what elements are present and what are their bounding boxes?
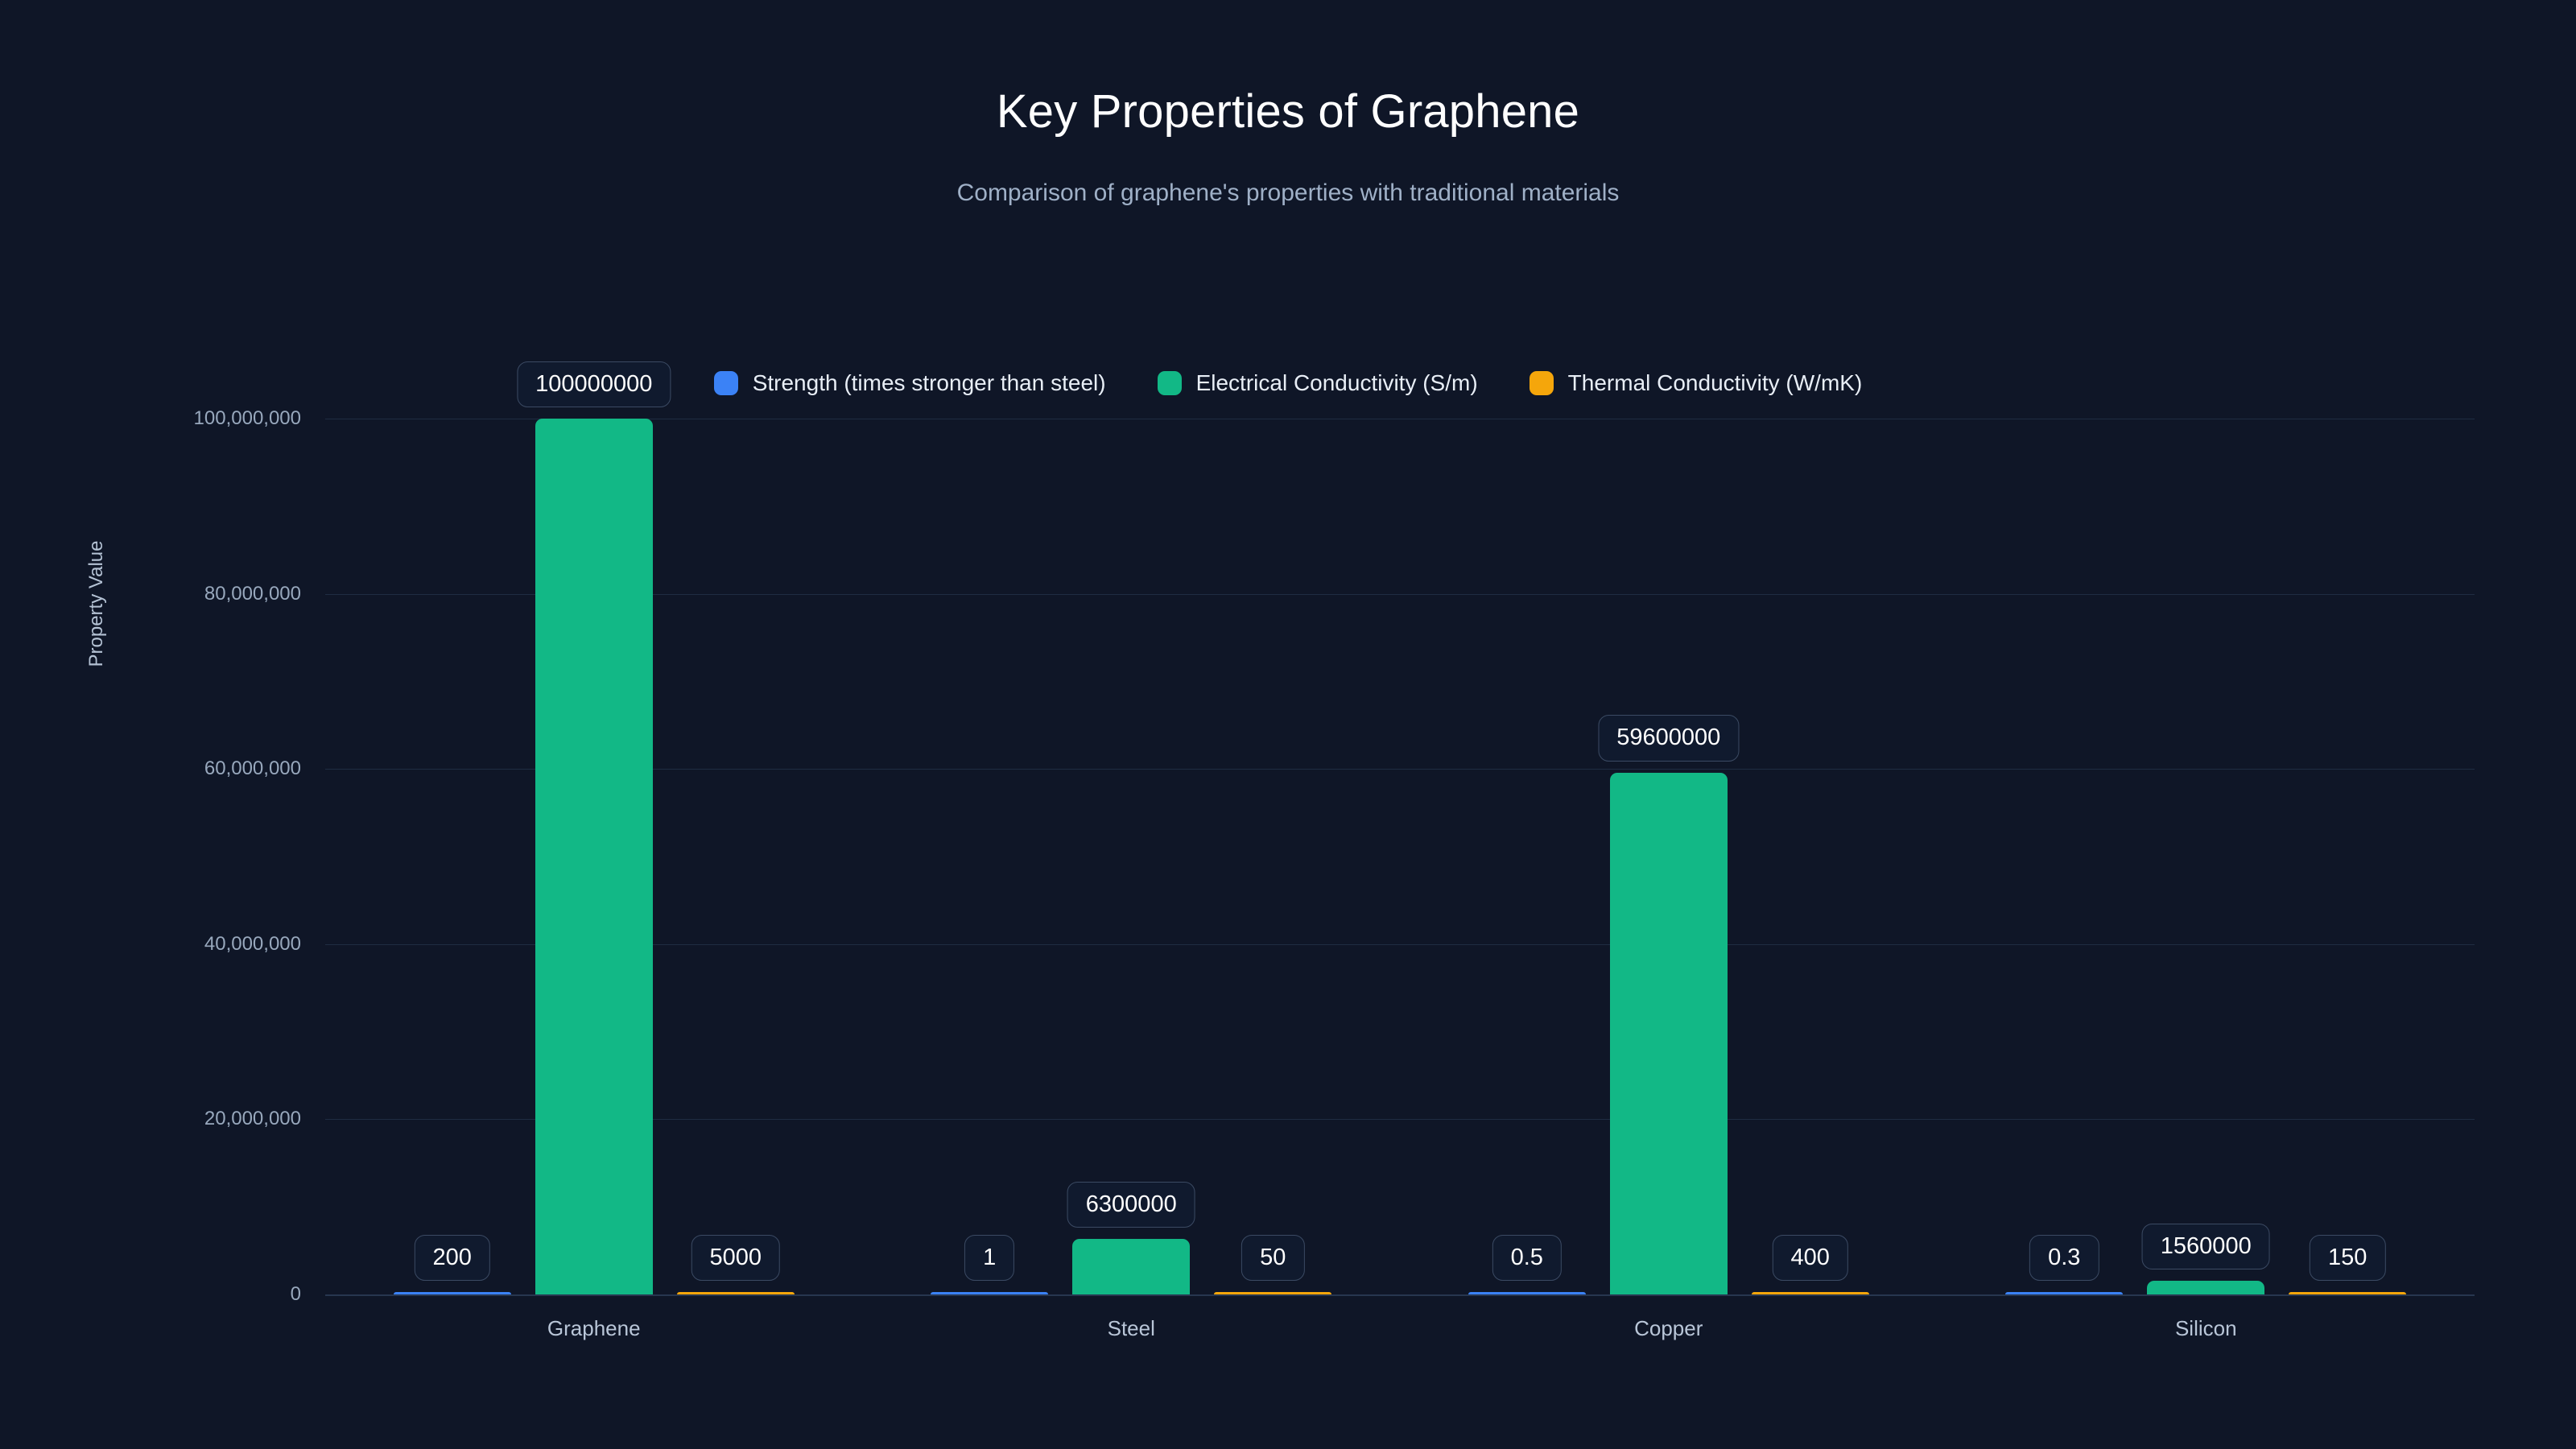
bar-slot: 150 [2289, 419, 2406, 1294]
y-axis-tick-label: 0 [0, 1283, 301, 1306]
value-label: 200 [415, 1235, 490, 1281]
bar-group-copper: 0.559600000400Copper [1456, 419, 1881, 1294]
bar-slot: 1 [931, 419, 1048, 1294]
y-axis-tick-label: 20,000,000 [0, 1108, 301, 1130]
value-label: 5000 [691, 1235, 780, 1281]
bar-slot: 200 [394, 419, 511, 1294]
y-axis-tick-label: 40,000,000 [0, 933, 301, 956]
value-label: 1 [964, 1235, 1014, 1281]
value-label: 1560000 [2142, 1224, 2270, 1269]
bar-slot: 50 [1214, 419, 1331, 1294]
bar-graphene-1[interactable] [535, 419, 653, 1294]
bar-copper-0[interactable] [1468, 1292, 1586, 1294]
bar-slot: 0.3 [2005, 419, 2123, 1294]
value-label: 0.5 [1492, 1235, 1562, 1281]
value-label: 6300000 [1067, 1182, 1195, 1228]
bar-graphene-2[interactable] [677, 1292, 795, 1294]
bar-slot: 5000 [677, 419, 795, 1294]
y-axis-tick-label: 60,000,000 [0, 758, 301, 780]
bar-slot: 100000000 [535, 419, 653, 1294]
value-label: 50 [1241, 1235, 1304, 1281]
plot-area: Property Value 020,000,00040,000,00060,0… [0, 0, 2576, 1449]
x-axis-category-label: Graphene [382, 1316, 807, 1341]
bar-steel-0[interactable] [931, 1292, 1048, 1294]
bar-silicon-1[interactable] [2147, 1281, 2264, 1294]
bar-steel-1[interactable] [1072, 1239, 1190, 1294]
y-axis-tick-label: 100,000,000 [0, 407, 301, 430]
bar-graphene-0[interactable] [394, 1292, 511, 1294]
bar-copper-1[interactable] [1610, 773, 1728, 1294]
bar-group-steel: 1630000050Steel [919, 419, 1344, 1294]
bar-slot: 400 [1752, 419, 1869, 1294]
value-label: 100000000 [517, 361, 671, 407]
x-axis-category-label: Steel [919, 1316, 1344, 1341]
x-axis-baseline [325, 1294, 2475, 1296]
bar-slot: 59600000 [1610, 419, 1728, 1294]
y-axis-tick-label: 80,000,000 [0, 583, 301, 605]
bar-slot: 6300000 [1072, 419, 1190, 1294]
bar-steel-2[interactable] [1214, 1292, 1331, 1294]
bar-silicon-0[interactable] [2005, 1292, 2123, 1294]
bar-group-graphene: 2001000000005000Graphene [382, 419, 807, 1294]
bar-slot: 1560000 [2147, 419, 2264, 1294]
value-label: 150 [2310, 1235, 2385, 1281]
value-label: 0.3 [2029, 1235, 2099, 1281]
value-label: 400 [1773, 1235, 1848, 1281]
x-axis-category-label: Silicon [1993, 1316, 2418, 1341]
value-label: 59600000 [1598, 715, 1739, 761]
x-axis-category-label: Copper [1456, 1316, 1881, 1341]
bar-copper-2[interactable] [1752, 1292, 1869, 1294]
bar-slot: 0.5 [1468, 419, 1586, 1294]
bar-silicon-2[interactable] [2289, 1292, 2406, 1294]
bar-group-silicon: 0.31560000150Silicon [1993, 419, 2418, 1294]
